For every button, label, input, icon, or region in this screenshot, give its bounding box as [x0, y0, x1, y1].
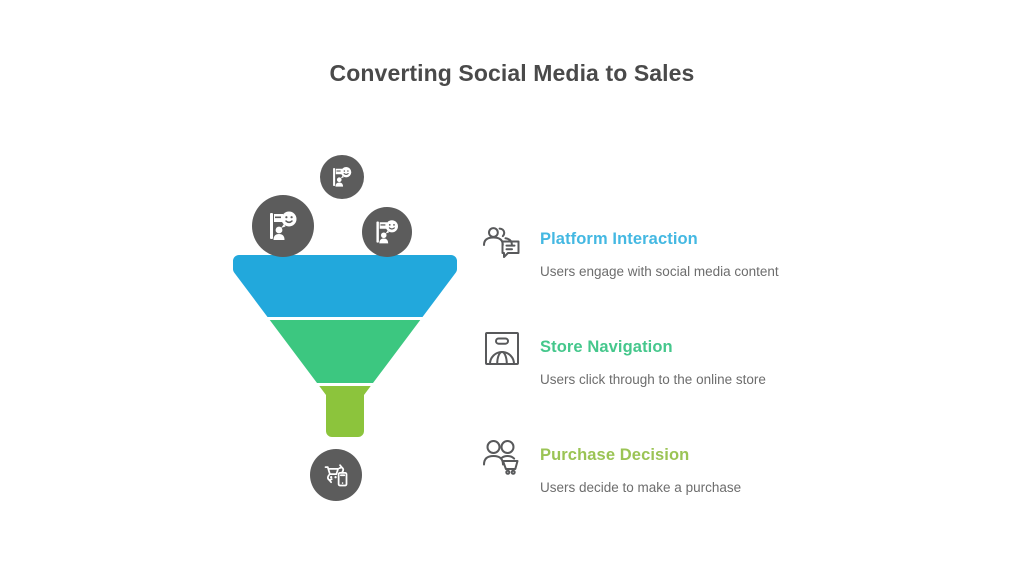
mobile-commerce-icon — [322, 461, 350, 489]
step-heading: Platform Interaction — [540, 230, 698, 249]
social-engagement-icon — [267, 210, 299, 242]
funnel-segment-platform-interaction — [210, 255, 480, 317]
step-description: Users decide to make a purchase — [540, 480, 741, 495]
step-description: Users click through to the online store — [540, 372, 766, 387]
funnel-divider-1 — [210, 317, 480, 320]
funnel-graphic — [210, 145, 480, 505]
social-engagement-icon — [374, 219, 400, 245]
step-item-store-navigation[interactable]: Store Navigation Users click through to … — [478, 320, 898, 428]
funnel-bubble-bottom — [310, 449, 362, 501]
step-heading: Store Navigation — [540, 338, 673, 357]
step-item-platform-interaction[interactable]: Platform Interaction Users engage with s… — [478, 212, 898, 320]
funnel-bubble-top-left — [252, 195, 314, 257]
steps-list: Platform Interaction Users engage with s… — [478, 212, 898, 536]
people-chat-icon — [478, 216, 526, 264]
funnel-segment-purchase-decision — [210, 386, 480, 455]
step-item-purchase-decision[interactable]: Purchase Decision Users decide to make a… — [478, 428, 898, 536]
funnel-bubble-top-center — [320, 155, 364, 199]
funnel-bubble-top-right — [362, 207, 412, 257]
step-heading: Purchase Decision — [540, 446, 689, 465]
step-description: Users engage with social media content — [540, 264, 779, 279]
slide-canvas: Converting Social Media to Sales — [0, 0, 1024, 576]
funnel-segment-store-navigation — [210, 320, 480, 383]
people-cart-icon — [478, 432, 526, 480]
page-title: Converting Social Media to Sales — [0, 60, 1024, 87]
storefront-icon — [478, 324, 526, 372]
funnel-shape — [210, 255, 480, 455]
social-engagement-icon — [331, 166, 353, 188]
funnel-divider-2 — [210, 383, 480, 386]
